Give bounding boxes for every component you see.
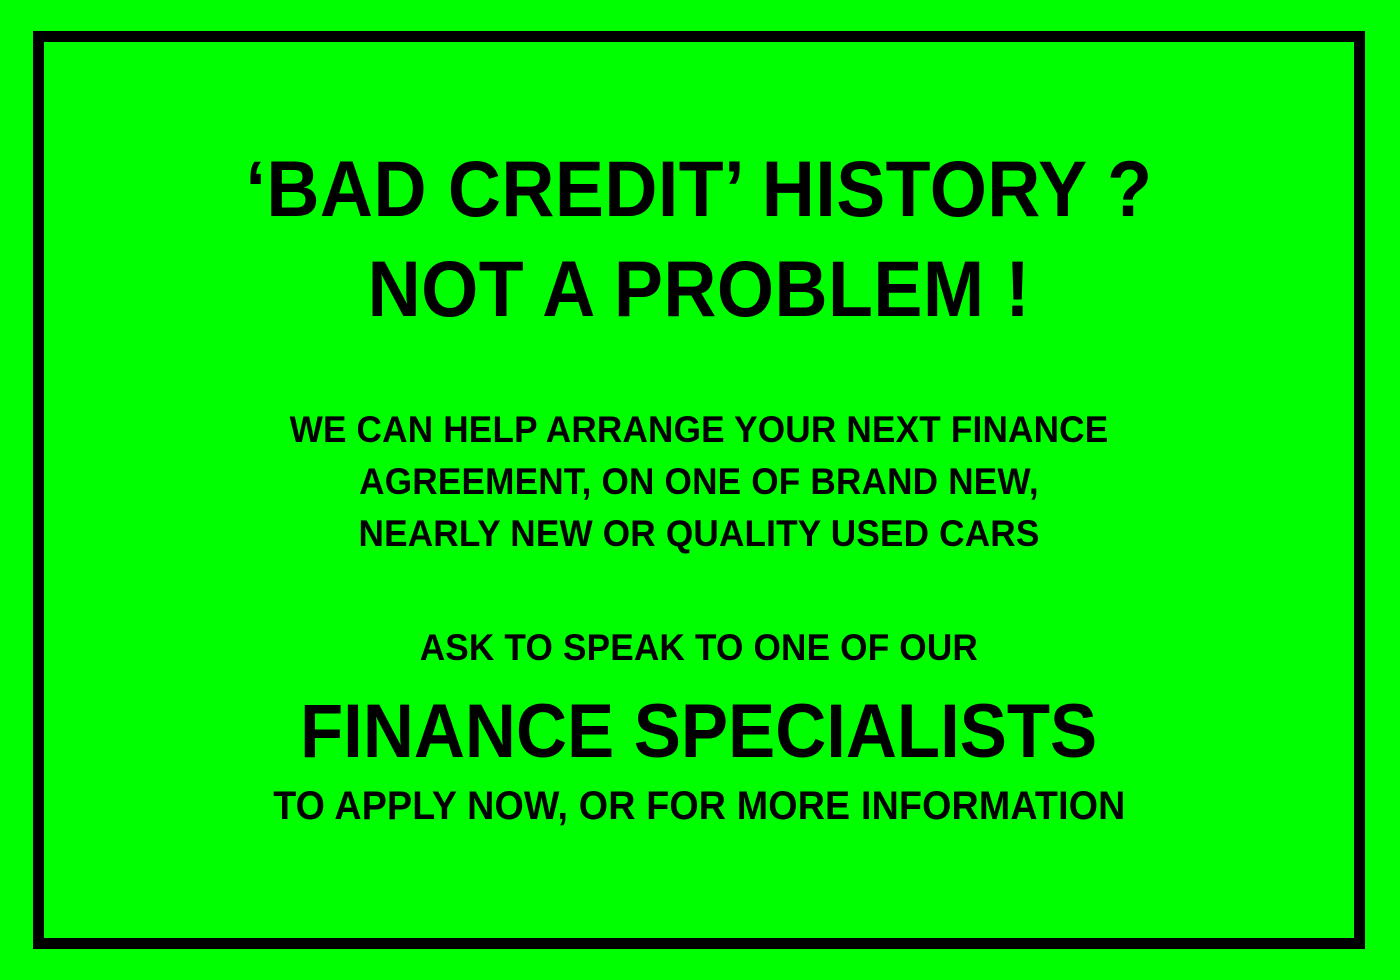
ask-to-speak-line: ASK TO SPEAK TO ONE OF OUR — [420, 628, 978, 669]
body-line-3: NEARLY NEW OR QUALITY USED CARS — [77, 508, 1322, 560]
headline-block: ‘BAD CREDIT’ HISTORY ? NOT A PROBLEM ! — [44, 150, 1354, 328]
headline-line-2: NOT A PROBLEM ! — [90, 250, 1308, 328]
body-line-2: AGREEMENT, ON ONE OF BRAND NEW, — [77, 456, 1322, 508]
closing-instruction-line: TO APPLY NOW, OR FOR MORE INFORMATION — [273, 784, 1125, 828]
body-line-1: WE CAN HELP ARRANGE YOUR NEXT FINANCE — [77, 404, 1322, 456]
poster-content: ‘BAD CREDIT’ HISTORY ? NOT A PROBLEM ! W… — [44, 42, 1354, 938]
body-block: WE CAN HELP ARRANGE YOUR NEXT FINANCE AG… — [44, 404, 1354, 559]
headline-line-1: ‘BAD CREDIT’ HISTORY ? — [90, 150, 1308, 228]
finance-specialists-heading: FINANCE SPECIALISTS — [300, 694, 1097, 770]
advertisement-poster: ‘BAD CREDIT’ HISTORY ? NOT A PROBLEM ! W… — [0, 0, 1400, 980]
